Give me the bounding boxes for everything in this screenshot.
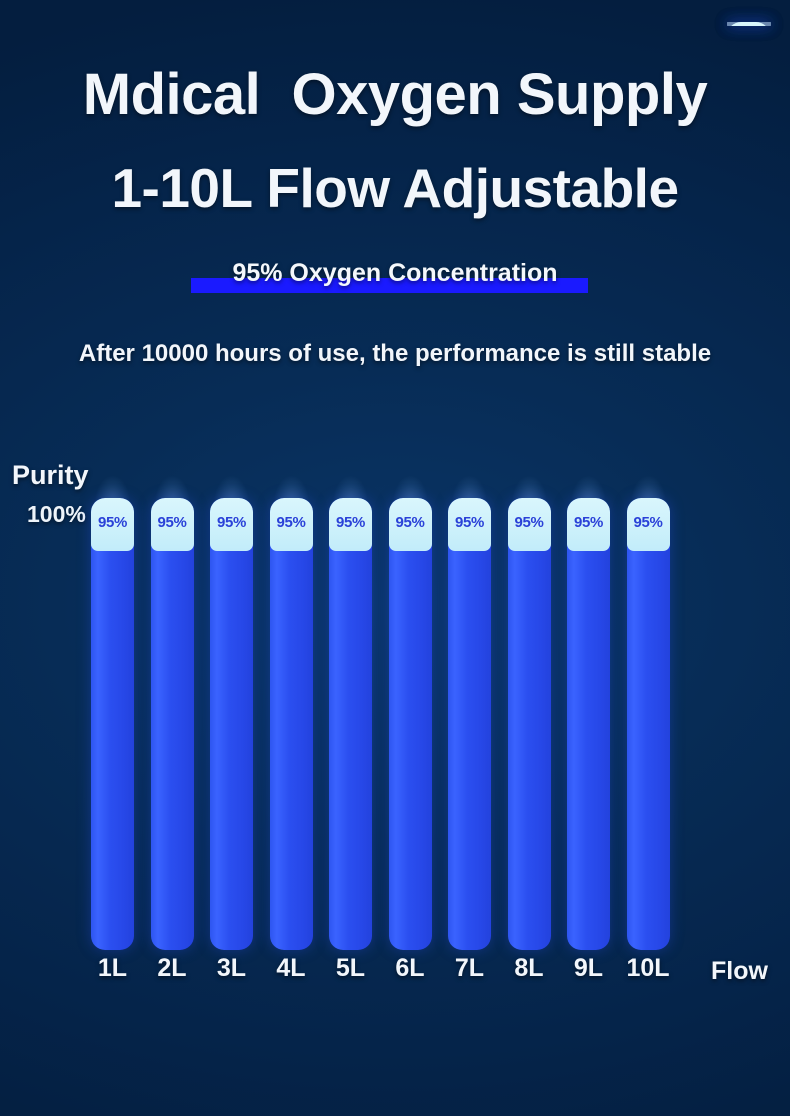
x-axis-tick-label: 1L [82,954,143,983]
x-axis-tick-label: 10L [618,954,679,983]
bar-column [91,498,134,950]
bar-item: 95%1L [91,498,134,950]
bar-value-label: 95% [389,514,432,531]
x-axis-tick-label: 7L [439,954,500,983]
bar-value-label: 95% [210,514,253,531]
bar-value-label: 95% [270,514,313,531]
bar-item: 95%10L [627,498,670,950]
bar-column [389,498,432,950]
bar-column [508,498,551,950]
bar-item: 95%8L [508,498,551,950]
y-axis-title: Purity [12,460,89,491]
bar-item: 95%4L [270,498,313,950]
bar-column [270,498,313,950]
bar-column [151,498,194,950]
x-axis-tick-label: 9L [558,954,619,983]
x-axis-tick-label: 2L [142,954,203,983]
x-axis-tick-label: 5L [320,954,381,983]
bar-value-label: 95% [627,514,670,531]
bar-item: 95%2L [151,498,194,950]
x-axis-title: Flow [711,957,768,986]
bar-column [567,498,610,950]
bar-value-label: 95% [91,514,134,531]
bar-item: 95%9L [567,498,610,950]
y-axis-tick-label: 100% [27,501,86,528]
bar-value-label: 95% [329,514,372,531]
purity-flow-bar-chart: Purity 100% Flow 95%1L95%2L95%3L95%4L95%… [0,0,790,1116]
bar-value-label: 95% [567,514,610,531]
x-axis-tick-label: 6L [380,954,441,983]
bar-column [329,498,372,950]
bar-column [448,498,491,950]
bar-group: 95%1L95%2L95%3L95%4L95%5L95%6L95%7L95%8L… [91,498,701,950]
bar-value-label: 95% [151,514,194,531]
x-axis-tick-label: 3L [201,954,262,983]
x-axis-tick-label: 8L [499,954,560,983]
bar-column [210,498,253,950]
bar-item: 95%7L [448,498,491,950]
bar-column [627,498,670,950]
bar-value-label: 95% [508,514,551,531]
x-axis-tick-label: 4L [261,954,322,983]
oxygen-supply-banner: Mdical Oxygen Supply 1-10L Flow Adjustab… [0,0,790,1116]
bar-item: 95%3L [210,498,253,950]
bar-item: 95%5L [329,498,372,950]
bar-value-label: 95% [448,514,491,531]
bar-item: 95%6L [389,498,432,950]
